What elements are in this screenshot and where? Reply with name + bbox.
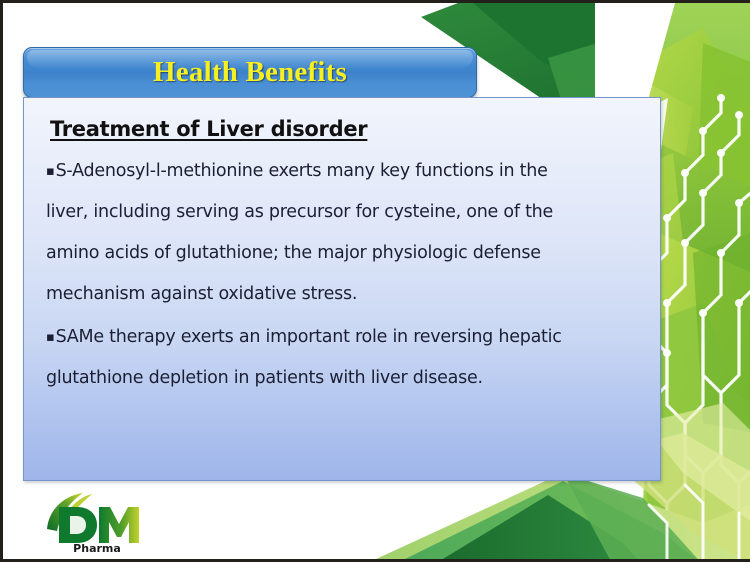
bullet-text: S-Adenosyl-l-methionine exerts many key … xyxy=(56,161,548,181)
bullet-square-icon: ▪ xyxy=(46,330,55,345)
slide-title-bar: Health Benefits xyxy=(23,47,477,98)
logo-letter-d xyxy=(59,507,97,543)
bullet-line: mechanism against oxidative stress. xyxy=(46,274,646,315)
bullet-item: ▪S-Adenosyl-l-methionine exerts many key… xyxy=(38,151,646,315)
content-heading: Treatment of Liver disorder xyxy=(50,117,646,141)
content-panel: Treatment of Liver disorder ▪S-Adenosyl-… xyxy=(23,97,661,481)
company-logo: Pharma xyxy=(37,491,155,553)
logo-tagline: Pharma xyxy=(73,542,121,553)
logo-letter-m xyxy=(99,507,139,543)
bullet-line: glutathione depletion in patients with l… xyxy=(46,358,646,399)
bullet-item: ▪SAMe therapy exerts an important role i… xyxy=(38,317,646,399)
page-title: Health Benefits xyxy=(153,56,347,89)
bullet-line: liver, including serving as precursor fo… xyxy=(46,192,646,233)
bullet-line: ▪SAMe therapy exerts an important role i… xyxy=(46,317,646,358)
bullet-line: ▪S-Adenosyl-l-methionine exerts many key… xyxy=(46,151,646,192)
bullet-square-icon: ▪ xyxy=(46,164,55,179)
bullet-text: SAMe therapy exerts an important role in… xyxy=(56,327,562,347)
bullet-line: amino acids of glutathione; the major ph… xyxy=(46,233,646,274)
slide: Health Benefits Treatment of Liver disor… xyxy=(0,0,750,562)
